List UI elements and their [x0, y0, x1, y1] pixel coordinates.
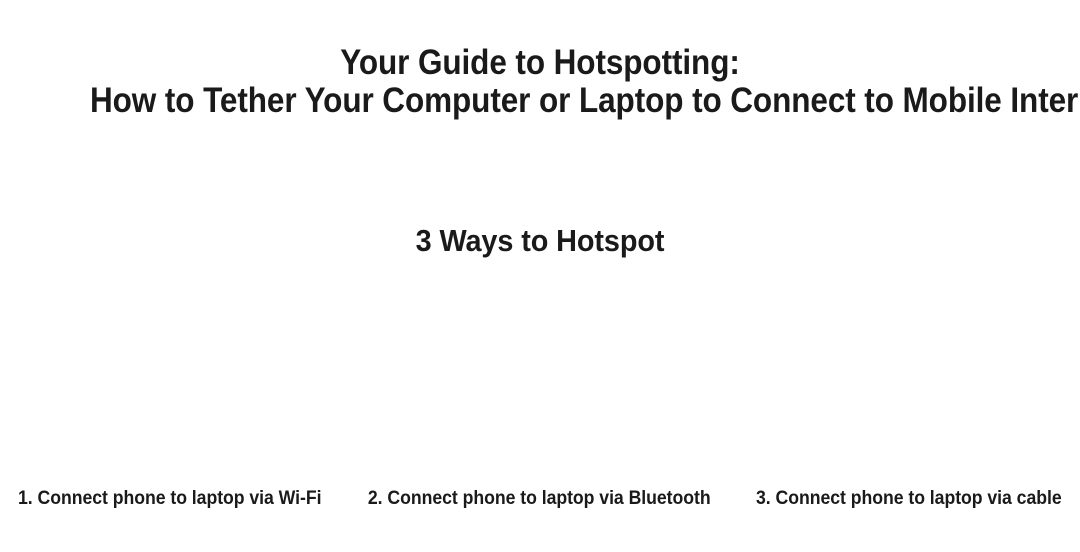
illustration-slot-bluetooth — [390, 282, 690, 478]
step-caption-row: 1. Connect phone to laptop via Wi-Fi 2. … — [0, 488, 1080, 512]
step-caption-cable: 3. Connect phone to laptop via cable — [756, 488, 1062, 510]
section-heading: 3 Ways to Hotspot — [38, 224, 1042, 258]
page-title-line-1: Your Guide to Hotspotting: — [90, 44, 990, 82]
illustration-slot-wifi — [19, 282, 319, 478]
step-caption-wifi: 1. Connect phone to laptop via Wi-Fi — [18, 488, 321, 510]
page-title-line-2: How to Tether Your Computer or Laptop to… — [90, 82, 990, 120]
illustration-band — [0, 282, 1080, 478]
step-caption-bluetooth: 2. Connect phone to laptop via Bluetooth — [367, 488, 710, 510]
infographic-canvas: Your Guide to Hotspotting: How to Tether… — [0, 0, 1080, 552]
page-title: Your Guide to Hotspotting: How to Tether… — [0, 44, 1080, 120]
illustration-slot-cable — [761, 282, 1061, 478]
